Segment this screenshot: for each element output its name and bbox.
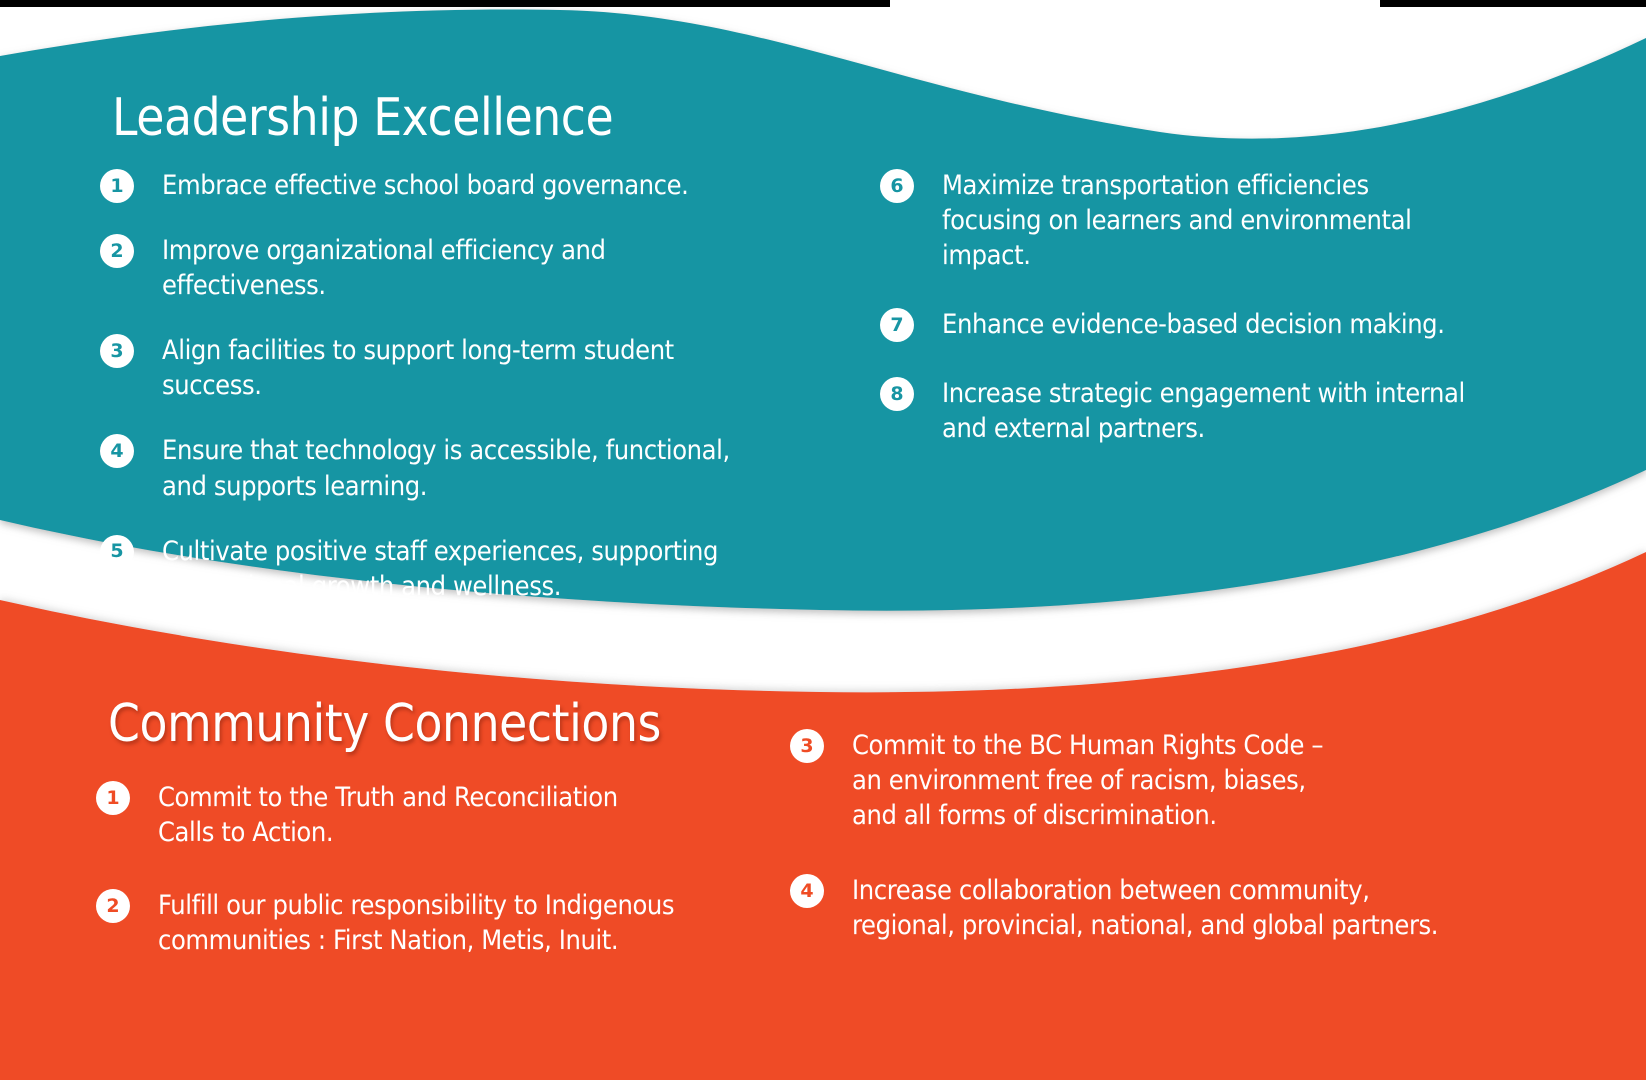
item-number-badge: 2: [100, 234, 134, 268]
list-item-text: Embrace effective school board governanc…: [162, 168, 772, 203]
top-crop-bar-right: [1380, 0, 1646, 7]
poster-canvas: Leadership Excellence 1 Embrace effectiv…: [0, 0, 1646, 1080]
item-number-badge: 1: [100, 169, 134, 203]
list-item: 3 Align facilities to support long-term …: [100, 333, 840, 403]
leadership-left-column: 1 Embrace effective school board governa…: [100, 168, 840, 634]
list-item-text: Increase collaboration between community…: [852, 873, 1462, 943]
item-number-badge: 3: [790, 729, 824, 763]
leadership-right-column: 6 Maximize transportation efficiencies f…: [880, 168, 1580, 481]
list-item: 5 Cultivate positive staff experiences, …: [100, 534, 840, 604]
list-item-text: Ensure that technology is accessible, fu…: [162, 433, 772, 503]
list-item-text: Commit to the BC Human Rights Code – an …: [852, 728, 1462, 833]
list-item: 2 Improve organizational efficiency and …: [100, 233, 840, 303]
list-item: 6 Maximize transportation efficiencies f…: [880, 168, 1580, 273]
list-item: 1 Embrace effective school board governa…: [100, 168, 840, 203]
item-number-badge: 2: [96, 889, 130, 923]
list-item-text: Increase strategic engagement with inter…: [942, 376, 1516, 446]
item-number-badge: 1: [96, 781, 130, 815]
list-item-text: Enhance evidence-based decision making.: [942, 307, 1516, 342]
list-item: 8 Increase strategic engagement with int…: [880, 376, 1580, 446]
leadership-excellence-section: Leadership Excellence 1 Embrace effectiv…: [0, 70, 1646, 590]
list-item: 1 Commit to the Truth and Reconciliation…: [96, 780, 776, 850]
item-number-badge: 6: [880, 169, 914, 203]
list-item: 4 Ensure that technology is accessible, …: [100, 433, 840, 503]
item-number-badge: 4: [790, 874, 824, 908]
item-number-badge: 3: [100, 334, 134, 368]
list-item-text: Cultivate positive staff experiences, su…: [162, 534, 772, 604]
community-connections-title: Community Connections: [108, 698, 661, 750]
list-item-text: Fulfill our public responsibility to Ind…: [158, 888, 714, 958]
list-item: 2 Fulfill our public responsibility to I…: [96, 888, 776, 958]
item-number-badge: 7: [880, 308, 914, 342]
leadership-excellence-title: Leadership Excellence: [112, 92, 613, 144]
community-connections-section: Community Connections 1 Commit to the Tr…: [0, 680, 1646, 1040]
top-crop-bar-left: [0, 0, 890, 7]
item-number-badge: 4: [100, 434, 134, 468]
list-item: 7 Enhance evidence-based decision making…: [880, 307, 1580, 342]
list-item-text: Improve organizational efficiency and ef…: [162, 233, 772, 303]
list-item: 4 Increase collaboration between communi…: [790, 873, 1530, 943]
list-item: 3 Commit to the BC Human Rights Code – a…: [790, 728, 1530, 833]
list-item-text: Align facilities to support long-term st…: [162, 333, 772, 403]
item-number-badge: 8: [880, 377, 914, 411]
list-item-text: Maximize transportation efficiencies foc…: [942, 168, 1516, 273]
community-right-column: 3 Commit to the BC Human Rights Code – a…: [790, 728, 1530, 983]
item-number-badge: 5: [100, 535, 134, 569]
community-left-column: 1 Commit to the Truth and Reconciliation…: [96, 780, 776, 996]
list-item-text: Commit to the Truth and Reconciliation C…: [158, 780, 714, 850]
